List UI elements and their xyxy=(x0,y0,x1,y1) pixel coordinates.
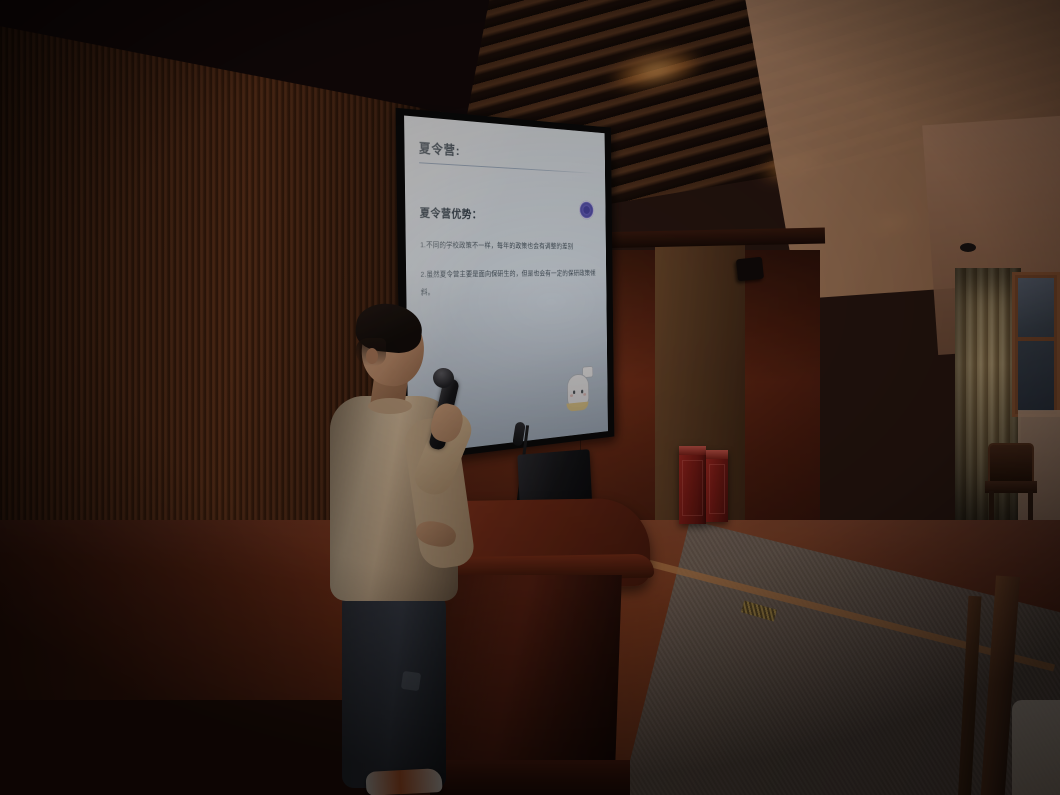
cartoon-duck-mascot-icon xyxy=(564,366,594,415)
seat-cover-cloth xyxy=(1012,700,1060,795)
slide-bullet-item: 2.虽然夏令营主要是面向保研生的，但是也会有一定的保研政策倾斜。 xyxy=(420,265,596,301)
red-cabinet xyxy=(706,450,728,522)
lecture-hall-scene: 夏令营: 夏令营优势： 1.不同的学校政策不一样，每年的政策也会有调整的差别 2… xyxy=(0,0,1060,795)
sneaker xyxy=(365,768,442,795)
mascot-eye xyxy=(581,390,583,393)
speaker-legs xyxy=(342,588,446,788)
window-mullion xyxy=(1018,337,1054,341)
cabinet-top xyxy=(679,446,706,455)
slide-bullet-list: 1.不同的学校政策不一样，每年的政策也会有调整的差别 2.虽然夏令营主要是面向保… xyxy=(420,236,596,300)
mascot-cheek xyxy=(570,394,573,397)
speaker-ear xyxy=(366,348,378,364)
university-seal-icon xyxy=(579,200,594,219)
wall-speaker-icon xyxy=(736,257,764,282)
ceiling-spotlight-icon xyxy=(960,243,976,252)
cabinet-panel xyxy=(709,464,725,514)
slide-bullet-item: 1.不同的学校政策不一样，每年的政策也会有调整的差别 xyxy=(420,236,596,254)
chair-back xyxy=(988,443,1034,483)
student-speaker xyxy=(320,300,510,795)
cabinet-top xyxy=(706,450,728,459)
mascot-eye xyxy=(573,390,575,393)
window-with-frame xyxy=(1012,272,1060,417)
dark-wood-armchair xyxy=(985,443,1037,523)
mascot-feet xyxy=(566,402,588,412)
window-pane xyxy=(1018,278,1054,411)
mascot-cheek xyxy=(583,393,586,395)
red-cabinet xyxy=(679,446,706,524)
legs-shadow xyxy=(342,588,446,788)
slide-heading: 夏令营优势： xyxy=(420,205,596,225)
seal-core xyxy=(583,206,590,214)
cabinet-panel xyxy=(682,460,703,516)
cargo-pocket xyxy=(401,671,421,691)
sweatshirt-collar xyxy=(368,398,412,414)
